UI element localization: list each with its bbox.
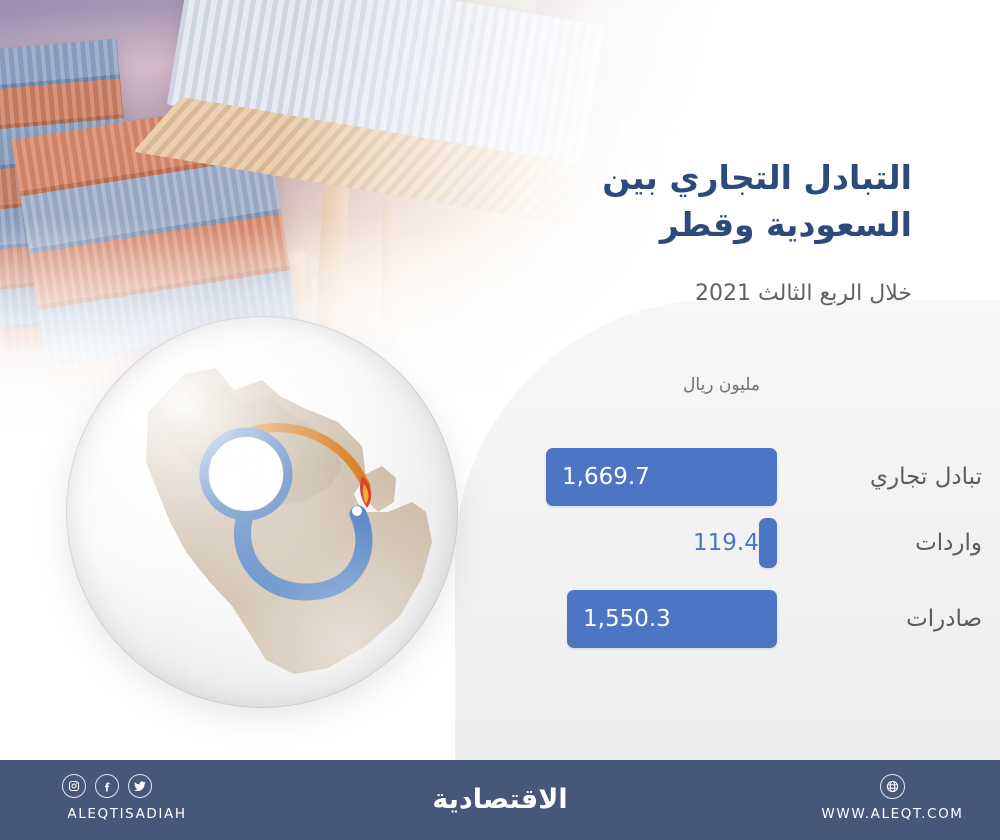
bar-category-imports: واردات <box>792 530 982 556</box>
chart-row: 119.4 واردات <box>500 518 1000 568</box>
destination-node-dot <box>352 506 362 516</box>
bar-value-total-trade: 1,669.7 <box>562 464 650 490</box>
globe-icon[interactable] <box>880 774 905 799</box>
chart-row: 1,669.7 تبادل تجاري <box>500 448 1000 506</box>
bar-chart: 1,669.7 تبادل تجاري 119.4 واردات 1,550.3… <box>500 440 1000 670</box>
bar-imports <box>759 518 777 568</box>
unit-label: مليون ريال <box>400 375 760 395</box>
bar-value-imports: 119.4 <box>693 530 759 556</box>
bar-value-exports: 1,550.3 <box>583 606 671 632</box>
footer-bar: ALEQTISADIAH الاقتصادية WWW.ALEQT.COM <box>0 760 1000 840</box>
page-subtitle: خلال الربع الثالث 2021 <box>392 281 912 306</box>
title-line-1: التبادل التجاري بين <box>392 155 912 202</box>
footer-website: WWW.ALEQT.COM <box>790 806 995 822</box>
bar-category-total-trade: تبادل تجاري <box>792 464 982 490</box>
page-title: التبادل التجاري بين السعودية وقطر <box>392 155 912 249</box>
title-line-2: السعودية وقطر <box>392 202 912 249</box>
bar-category-exports: صادرات <box>792 606 982 632</box>
origin-node-core <box>209 437 283 511</box>
infographic-canvas: التبادل التجاري بين السعودية وقطر خلال ا… <box>0 0 1000 840</box>
chart-row: 1,550.3 صادرات <box>500 590 1000 648</box>
